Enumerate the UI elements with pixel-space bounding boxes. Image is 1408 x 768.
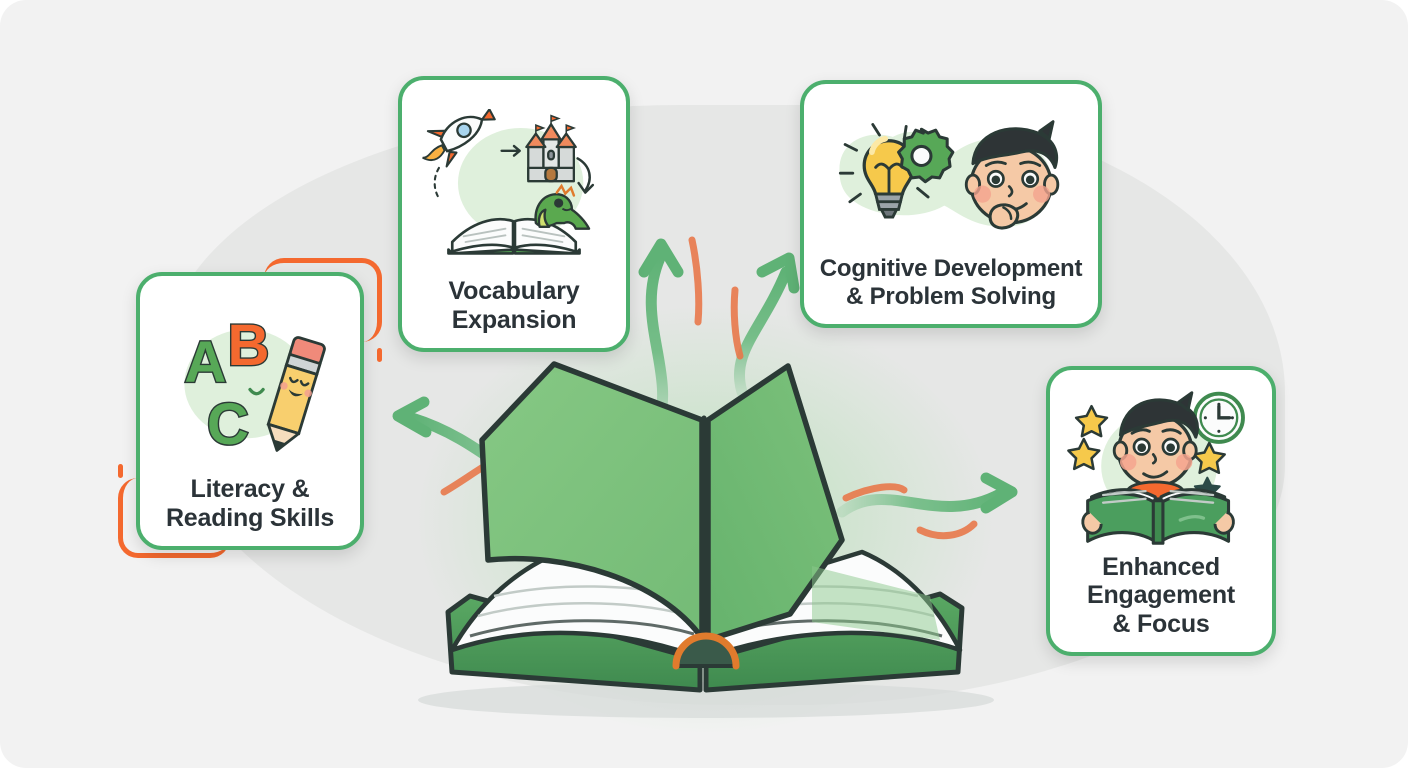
card-vocabulary-expansion[interactable]: Vocabulary Expansion: [398, 76, 630, 352]
abc-pencil-icon: A B C: [150, 288, 350, 475]
card-cognitive-development[interactable]: Cognitive Development & Problem Solving: [800, 80, 1102, 328]
svg-text:C: C: [207, 391, 249, 456]
infographic-canvas: A B C: [0, 0, 1408, 768]
rocket-castle-dinosaur-book-icon: [412, 92, 616, 277]
svg-text:A: A: [184, 330, 226, 395]
svg-text:B: B: [228, 313, 270, 378]
reading-boy-stars-clock-icon: [1060, 382, 1262, 553]
card-cognitive-label: Cognitive Development & Problem Solving: [814, 255, 1088, 314]
card-engagement-label: Enhanced Engagement & Focus: [1060, 553, 1262, 643]
lightbulb-gear-thinking-boy-icon: [814, 96, 1088, 255]
card-literacy-reading-skills[interactable]: A B C: [136, 272, 364, 550]
orange-tick-right: [377, 348, 382, 362]
card-literacy-label: Literacy & Reading Skills: [150, 475, 350, 536]
orange-tick-left: [118, 464, 123, 478]
card-enhanced-engagement-focus[interactable]: Enhanced Engagement & Focus: [1046, 366, 1276, 656]
card-vocabulary-label: Vocabulary Expansion: [412, 277, 616, 338]
